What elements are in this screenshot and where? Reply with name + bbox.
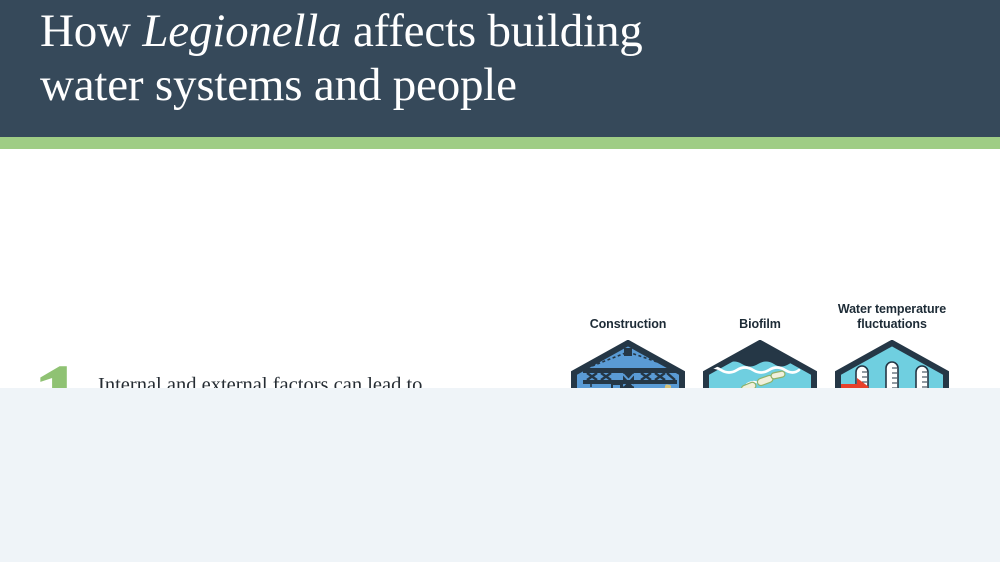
title-text-italic: Legionella [142,5,341,57]
header-banner: How Legionella affects building water sy… [0,0,1000,137]
page-title: How Legionella affects building water sy… [40,4,960,112]
title-text-2: affects building [341,5,642,57]
section-step-2: 2. Legionella grows best in large, compl… [0,388,1000,562]
construction-label: Construction [560,317,696,332]
infographic-page: How Legionella affects building water sy… [0,0,1000,562]
header-accent-rule [0,137,1000,149]
title-text-1: How [40,5,142,57]
title-text-line2: water systems and people [40,59,517,111]
water-temperature-fluctuations-label: Water temperature fluctuations [824,302,960,332]
biofilm-label: Biofilm [692,317,828,332]
section-step-1: 1. Internal and external factors can lea… [0,149,1000,388]
